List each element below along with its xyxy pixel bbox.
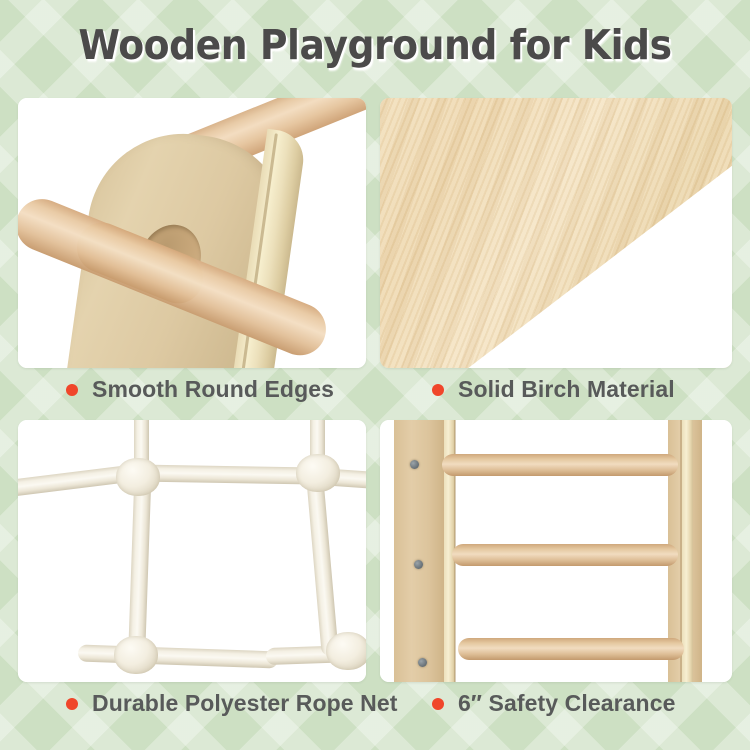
bullet-dot-icon (66, 698, 78, 710)
ladder-rung (458, 638, 684, 660)
screw-head-icon (414, 560, 423, 569)
photo-solid-birch-material (380, 98, 732, 368)
caption-solid-birch-material: Solid Birch Material (432, 376, 675, 403)
caption-durable-polyester-rope-net: Durable Polyester Rope Net (66, 690, 398, 717)
feature-cell-durable-polyester-rope-net: Durable Polyester Rope Net (18, 420, 366, 682)
bullet-dot-icon (432, 698, 444, 710)
rope-knot (296, 454, 340, 492)
rope-knot (116, 458, 160, 496)
feature-cell-smooth-round-edges: Smooth Round Edges (18, 98, 366, 368)
photo-ladder (380, 420, 732, 682)
caption-label: Smooth Round Edges (92, 376, 334, 403)
rope-knot (326, 632, 366, 670)
page-title: Wooden Playground for Kids (30, 22, 720, 69)
ladder-rail-right-ply-edge (682, 420, 693, 682)
feature-cell-safety-clearance: 6″ Safety Clearance (380, 420, 732, 682)
photo-smooth-round-edges (18, 98, 366, 368)
photo-white-corner (380, 98, 732, 368)
ladder-rung (452, 544, 678, 566)
bullet-dot-icon (432, 384, 444, 396)
rope-strand-horizontal (136, 464, 316, 484)
caption-label: Durable Polyester Rope Net (92, 690, 398, 717)
feature-cell-solid-birch-material: Solid Birch Material (380, 98, 732, 368)
caption-smooth-round-edges: Smooth Round Edges (66, 376, 334, 403)
screw-head-icon (418, 658, 427, 667)
bullet-dot-icon (66, 384, 78, 396)
caption-label: Solid Birch Material (458, 376, 675, 403)
ladder-rung (442, 454, 678, 476)
photo-rope-net (18, 420, 366, 682)
caption-label: 6″ Safety Clearance (458, 690, 675, 717)
ladder-rail-left (394, 420, 444, 682)
caption-safety-clearance: 6″ Safety Clearance (432, 690, 675, 717)
product-feature-infographic: Wooden Playground for Kids Smooth Round … (0, 0, 750, 750)
screw-head-icon (410, 460, 419, 469)
rope-knot (114, 636, 158, 674)
